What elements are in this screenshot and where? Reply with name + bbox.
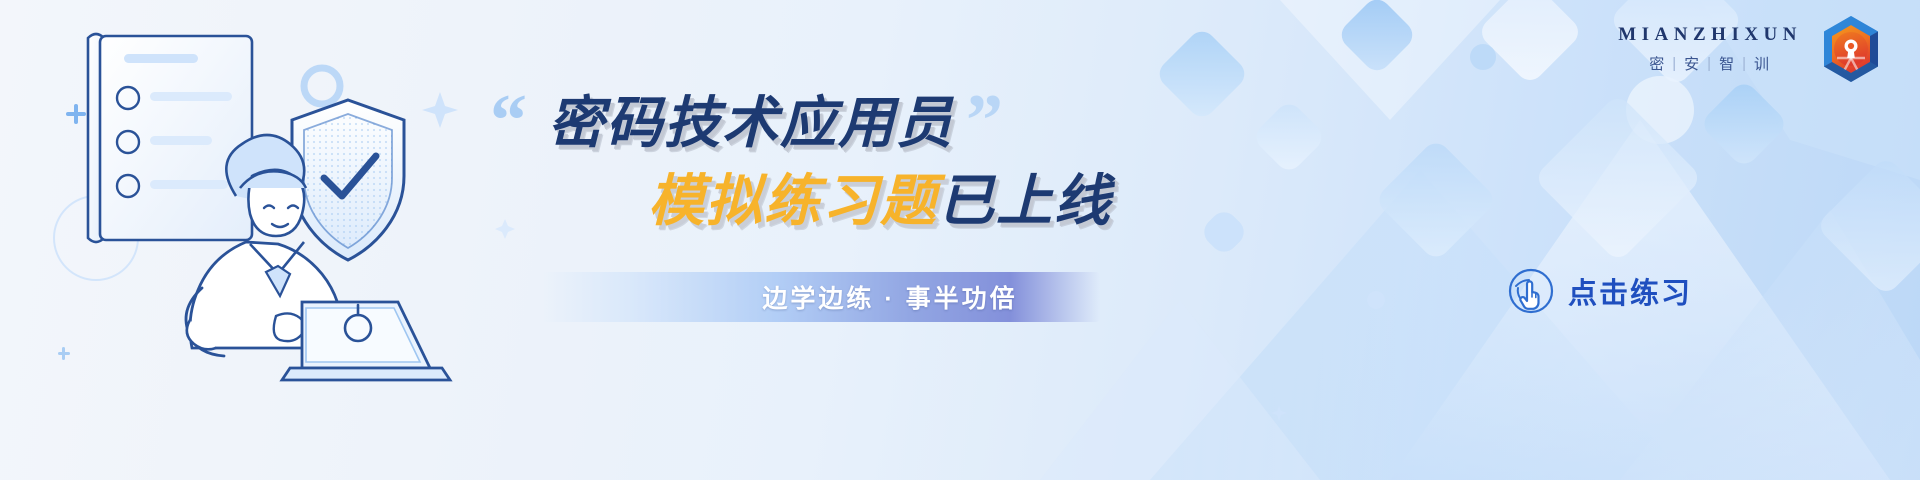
- decor-diamond: [1336, 0, 1418, 76]
- decor-diamond: [1465, 39, 1502, 76]
- headline-line-1: 密码技术应用员: [548, 96, 954, 152]
- quote-open-icon: “: [490, 84, 523, 158]
- tagline-text: 边学边练 · 事半功倍: [762, 279, 1017, 315]
- brand-cn-sep: |: [1707, 55, 1713, 72]
- decor-diamond: [1476, 0, 1583, 86]
- headline-rest: 已上线: [938, 169, 1112, 234]
- decor-diamond: [1699, 79, 1790, 170]
- headline-line-2: 模拟练习题已上线: [648, 174, 1112, 230]
- promo-banner: “ ” 密码技术应用员 模拟练习题已上线 边学边练 · 事半功倍 点击练习 MI…: [0, 0, 1920, 480]
- practice-cta-button[interactable]: 点击练习: [1508, 268, 1692, 314]
- hexagon-lock-shield-icon[interactable]: [1818, 14, 1884, 84]
- brand-cn-char-3: 智: [1719, 53, 1736, 74]
- brand-cn-char-4: 训: [1754, 53, 1771, 74]
- brand-logo-text: MIANZHIXUN 密 | 安 | 智 | 训: [1618, 24, 1802, 74]
- headline-highlight: 模拟练习题: [648, 169, 938, 234]
- shield-check-icon: [292, 100, 404, 260]
- checklist-document-icon: [88, 34, 252, 242]
- decor-diamond: [1199, 207, 1250, 258]
- brand-logo[interactable]: MIANZHIXUN 密 | 安 | 智 | 训: [1618, 14, 1884, 84]
- decor-diamond: [1815, 155, 1920, 296]
- sparkle-icon: [1270, 404, 1288, 422]
- brand-cn-char-1: 密: [1649, 53, 1666, 74]
- brand-name-en: MIANZHIXUN: [1618, 24, 1802, 46]
- brand-cn-sep: |: [1742, 55, 1748, 72]
- practice-cta-label[interactable]: 点击练习: [1568, 270, 1692, 312]
- brand-cn-sep: |: [1672, 55, 1678, 72]
- tagline-bar: 边学边练 · 事半功倍: [540, 272, 1100, 322]
- decor-diamond: [1251, 99, 1327, 175]
- decor-diamond: [1374, 138, 1498, 262]
- decor-diamond: [1533, 93, 1703, 263]
- hand-pointer-icon[interactable]: [1508, 268, 1554, 314]
- brand-name-cn: 密 | 安 | 智 | 训: [1618, 53, 1802, 74]
- hero-illustration: [40, 20, 510, 400]
- laptop-icon: [282, 302, 450, 380]
- brand-cn-char-2: 安: [1684, 53, 1701, 74]
- quote-close-icon: ”: [966, 84, 999, 158]
